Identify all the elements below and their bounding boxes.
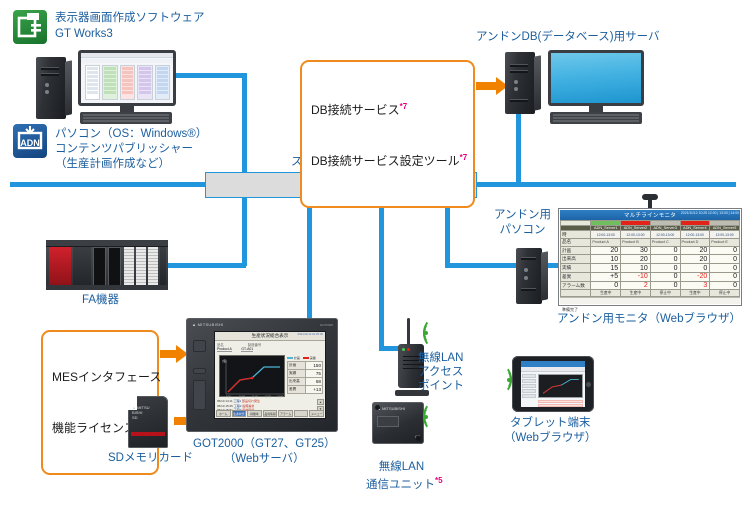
tower-bay — [41, 67, 58, 70]
got-meta: 品名 製造番号 Product A GT-A01 — [217, 342, 323, 353]
footnote-marker: *7 — [400, 102, 408, 111]
andon-monitor-bezel: マルチラインモニタ 2021/11/12 10:25 12:00 | 13:00… — [558, 208, 742, 306]
andon-data-row: 出来高10200200 — [561, 255, 740, 264]
got-value-key: 計画 — [288, 362, 306, 370]
andon-line-name: ADN_Server3 — [650, 226, 680, 231]
got-meta-value: Product A — [217, 347, 232, 352]
andon-line-name: ADN_Server1 — [591, 226, 621, 231]
sd-card-stripe — [131, 432, 165, 436]
got-nav-button[interactable]: ホーム — [216, 410, 231, 417]
keyboard-row — [553, 117, 639, 119]
browser-rows — [538, 400, 583, 405]
got-nav-button[interactable]: 品質情報 — [263, 410, 278, 417]
mes-line1: MESインタフェース — [52, 369, 148, 385]
fa-top-cover — [46, 240, 168, 247]
svg-text:9:00: 9:00 — [226, 395, 231, 398]
andon-cell-value: 0 — [650, 255, 680, 264]
keyboard-row — [553, 114, 639, 116]
wlan-unit-text: 無線LAN 通信ユニット — [366, 461, 435, 491]
got-value-row: 差異+13 — [288, 386, 323, 394]
got-nav-button[interactable]: 稼働率 — [247, 410, 262, 417]
fa-equipment — [46, 240, 168, 290]
monitor-bezel — [548, 50, 644, 106]
andon-line-state: 停止中 — [650, 290, 680, 297]
design-pc-tower — [36, 57, 66, 119]
andon-monitor-label: アンドン用モニタ（Webブラウザ） — [557, 312, 741, 326]
got-value-key: 差異 — [288, 386, 306, 394]
db-service-callout: DB接続サービス*7 DB接続サービス設定ツール*7 — [300, 60, 475, 208]
andon-cell-value: -20 — [680, 272, 710, 281]
andon-product-name: Product C — [650, 239, 680, 247]
andon-row-label: 計画 — [561, 246, 591, 255]
andon-cell-value: 0 — [710, 272, 740, 281]
keyboard-row — [83, 120, 169, 122]
tower-led — [514, 80, 518, 84]
wifi-arc — [491, 365, 512, 394]
andon-cell-value: 2 — [621, 281, 651, 290]
svg-text:11:00: 11:00 — [252, 395, 258, 398]
got-value-key: 実績 — [288, 370, 306, 378]
footnote-marker: *5 — [435, 476, 443, 485]
fa-base — [46, 285, 168, 290]
andon-status-bar: 準備完了 — [560, 297, 740, 304]
network-line-fa-v — [242, 198, 247, 266]
wireless-lan-communication-unit: ▲ MITSUBISHI C€ — [372, 402, 424, 444]
andon-cell-value: 20 — [591, 246, 621, 255]
andon-title-text: マルチラインモニタ — [624, 211, 676, 219]
wifi-arc — [423, 318, 445, 348]
got-nav-button[interactable]: アラーム — [278, 410, 293, 417]
tower-led — [45, 90, 49, 94]
andon-table-container: ADN_Server1ADN_Server2ADN_Server3ADN_Ser… — [560, 220, 740, 297]
andon-line-time: 12:00-13:00 — [621, 231, 651, 239]
andon-row-label: 実績 — [561, 264, 591, 273]
app-toolbar — [81, 53, 173, 58]
server-desktop — [551, 53, 641, 103]
got-value-key: 出来高 — [288, 378, 306, 386]
app-panel — [120, 65, 135, 100]
fa-label: FA機器 — [82, 293, 119, 307]
andon-cell-value: 10 — [621, 264, 651, 273]
andon-line-name: ADN_Server4 — [680, 226, 710, 231]
sd-card-print: ▲ MITSUBISHISD — [132, 405, 165, 420]
db-service-line2: DB接続サービス設定ツール*7 — [311, 150, 464, 169]
andon-cell-value: 0 — [710, 264, 740, 273]
monitor-screen — [551, 53, 641, 103]
tower-bay — [521, 288, 536, 291]
wifi-arc — [423, 402, 444, 431]
scroll-up-icon[interactable]: ▲ — [317, 399, 324, 405]
mitsubishi-brand-mark: ▲ MITSUBISHI — [192, 322, 224, 327]
app-panel — [137, 65, 152, 100]
tower-side — [534, 55, 541, 110]
andon-line-state: 生産中 — [680, 290, 710, 297]
network-line-andonpc-v — [445, 198, 450, 266]
andon-data-row: アラーム数02030 — [561, 281, 740, 290]
got-production-screen: 生産状況総合表示 2021/11/12 10:25:30 品名 製造番号 Pro… — [215, 332, 325, 418]
db-service-line1: DB接続サービス*7 — [311, 99, 464, 118]
got-value-row: 計画150 — [288, 362, 323, 370]
got-value-table: 計画150実績75出来高68差異+13 — [287, 361, 323, 394]
andon-cell-value: 20 — [680, 255, 710, 264]
tower-bay — [510, 70, 527, 73]
got-meta-value: GT-A01 — [241, 347, 253, 352]
legend-label: 計画 — [294, 356, 300, 360]
wlan-unit-label: 無線LAN 通信ユニット*5 — [366, 446, 443, 506]
svg-text:13:00: 13:00 — [277, 395, 284, 398]
andon-cell-value: 30 — [621, 246, 651, 255]
got-log-message: 部品切れ発生 — [242, 399, 260, 403]
andon-row-label: 差異 — [561, 272, 591, 281]
network-line-pc-h — [175, 73, 247, 78]
andon-line-time: 12:00-13:00 — [710, 231, 740, 239]
network-line-pc-v — [242, 73, 247, 184]
legend-swatch-actual — [303, 357, 309, 359]
network-line-trunk-left — [10, 182, 206, 187]
got-model-mark: GOT2000 — [320, 323, 333, 327]
andon-pc-label: アンドン用 パソコン — [494, 208, 551, 238]
andon-cell-value: 0 — [710, 255, 740, 264]
got-button-bar: ホーム生産状況稼働率品質情報アラームメニュー — [216, 410, 324, 417]
keyboard-row — [83, 114, 169, 116]
mitsubishi-brand-mark: ▲ MITSUBISHI — [377, 406, 405, 411]
got-nav-button[interactable]: メニュー — [309, 410, 324, 417]
tower-led — [45, 83, 49, 87]
got-values: 計画150実績75出来高68差異+13 — [287, 361, 323, 394]
tower-bay — [521, 257, 536, 260]
status-led-red — [407, 348, 410, 351]
network-line-got-v — [307, 198, 312, 320]
svg-text:10:00: 10:00 — [239, 395, 246, 398]
andon-cell-value: 20 — [621, 255, 651, 264]
legend-label: 実績 — [310, 356, 316, 360]
got-log-time: 05/10 15:45 — [217, 404, 234, 408]
andon-cell-value: 0 — [650, 272, 680, 281]
status-led-green — [402, 348, 405, 351]
got-touchscreen[interactable]: 生産状況総合表示 2021/11/12 10:25:30 品名 製造番号 Pro… — [214, 331, 326, 419]
tablet-device[interactable] — [512, 356, 594, 412]
andon-row-label: 時 — [561, 231, 591, 239]
andon-cell-value: 0 — [650, 264, 680, 273]
andon-line-name: ADN_Server5 — [710, 226, 740, 231]
server-label: アンドンDB(データベース)用サーバ — [476, 30, 659, 44]
got-side-button[interactable] — [193, 340, 206, 352]
fa-terminal-module — [148, 247, 158, 286]
andon-line-time: 12:00-13:00 — [650, 231, 680, 239]
got-log-tag: 工程2 — [234, 404, 243, 408]
tower-bay — [510, 99, 527, 102]
svg-text:ADN: ADN — [20, 138, 40, 148]
andon-row-label — [561, 290, 591, 297]
got-log-message: 設備異常 — [242, 404, 254, 408]
gtworks-label: 表示器画面作成ソフトウェア GT Works3 — [55, 10, 205, 42]
footnote-marker: *7 — [460, 153, 468, 162]
got-value-number: 68 — [305, 378, 323, 386]
tower-front — [505, 52, 535, 114]
got-value-row: 実績75 — [288, 370, 323, 378]
app-panel — [102, 65, 117, 100]
wlan-ap-label: 無線LAN アクセス ポイント — [418, 351, 464, 393]
andon-cell-value: 15 — [591, 264, 621, 273]
tower-side — [541, 251, 548, 300]
fa-connector-module — [108, 247, 121, 286]
andon-cell-value: +5 — [591, 272, 621, 281]
andon-cell-value: 0 — [650, 281, 680, 290]
tablet-label: タブレット端末 （Webブラウザ） — [504, 416, 596, 446]
mounting-hole — [416, 436, 421, 441]
got-value-row: 出来高68 — [288, 378, 323, 386]
monitor-bezel — [78, 50, 176, 106]
andon-cell-value: -10 — [621, 272, 651, 281]
network-line-server-v — [516, 112, 521, 184]
andon-product-name: Product D — [680, 239, 710, 247]
gt-works3-app-window — [81, 53, 173, 103]
andon-data-row: 実績1510000 — [561, 264, 740, 273]
sd-memory-card: ▲ MITSUBISHISD — [128, 396, 168, 448]
adn-glyph: ADN — [13, 124, 47, 158]
app-panel — [85, 65, 100, 100]
got-chart-legend: 計画 実績 — [287, 355, 323, 360]
got-value-number: +13 — [305, 386, 323, 394]
got-value-number: 75 — [305, 370, 323, 378]
legend-entry: 実績 — [303, 356, 316, 360]
andon-line-time: 12:00-13:00 — [591, 231, 621, 239]
tower-bay — [41, 73, 58, 76]
antenna — [407, 318, 410, 346]
legend-swatch-plan — [287, 357, 293, 359]
legend-entry: 計画 — [287, 356, 300, 360]
unit-label-plate — [377, 416, 399, 427]
tower-led — [524, 276, 528, 280]
home-button-icon[interactable] — [586, 382, 591, 387]
got-log-time: 05/10 14:11 — [217, 399, 233, 403]
fa-connector-module — [93, 247, 106, 286]
tablet-chart-svg — [539, 375, 582, 397]
andon-row-label: 品名 — [561, 239, 591, 247]
andon-cell-value: 0 — [650, 246, 680, 255]
got-title-text: 生産状況総合表示 — [252, 333, 289, 339]
tower-bay — [510, 64, 527, 67]
andon-cell-value: 10 — [591, 255, 621, 264]
andon-cell-value: 0 — [591, 281, 621, 290]
keyboard-row — [83, 117, 169, 119]
tower-led — [524, 268, 528, 272]
fa-terminal-module — [136, 247, 146, 286]
andon-cell-value: 0 — [710, 246, 740, 255]
andon-pc-tower — [516, 248, 542, 304]
browser-chart — [538, 374, 583, 398]
andon-db-server-tower — [505, 52, 535, 114]
got-nav-button[interactable]: 生産状況 — [232, 410, 247, 417]
network-line-wlanap-v — [379, 198, 384, 350]
tower-side — [65, 60, 72, 115]
got-trend-chart: (個) 9:00 10:00 11:00 12:00 13:00 — [219, 355, 285, 397]
adn-content-publisher-icon: ADN — [13, 124, 47, 158]
andon-multiline-table: ADN_Server1ADN_Server2ADN_Server3ADN_Ser… — [560, 220, 740, 297]
andon-data-row: 計画20300200 — [561, 246, 740, 255]
andon-clock: 2021/11/12 10:25 12:00 | 13:00 | 14:00 — [681, 211, 739, 215]
svg-text:12:00: 12:00 — [265, 395, 272, 398]
andon-row-label: 出来高 — [561, 255, 591, 264]
andon-db-server-monitor — [548, 50, 644, 118]
gt-works3-icon — [13, 10, 47, 44]
andon-cell-value: 3 — [680, 281, 710, 290]
design-pc-label: パソコン（OS：Windows®） コンテンツパブリッシャー （生産計画作成など… — [55, 127, 207, 172]
browser-toolbar — [521, 367, 585, 372]
andon-line-state: 停止中 — [710, 290, 740, 297]
andon-product-name: Product A — [591, 239, 621, 247]
andon-cell-value: 0 — [680, 264, 710, 273]
network-line-fa-h — [160, 263, 246, 268]
wifi-signal-icon-tablet — [487, 368, 511, 392]
got-log-tag: 工程1 — [233, 399, 242, 403]
got-nav-button[interactable] — [294, 410, 309, 417]
andon-db-server-keyboard — [550, 112, 642, 124]
got-side-button[interactable] — [193, 368, 206, 374]
browser-side-list — [522, 374, 536, 395]
design-pc-keyboard — [80, 112, 172, 124]
network-diagram: スイッチングハブ HUB 表示器画面作成ソフトウェア GT Works3 — [0, 0, 746, 480]
andon-cell-value: 0 — [710, 281, 740, 290]
wifi-signal-icon-unit — [424, 405, 448, 429]
got-label: GOT2000（GT27、GT25） （Webサーバ） — [193, 437, 336, 467]
tablet-web-browser — [521, 361, 585, 407]
fa-power-module — [49, 247, 71, 286]
mounting-hole — [375, 405, 380, 410]
keyboard-row — [553, 120, 639, 122]
got-side-button[interactable] — [193, 380, 206, 410]
got-chart-svg: (個) 9:00 10:00 11:00 12:00 13:00 — [220, 356, 286, 398]
andon-line-name: ADN_Server2 — [621, 226, 651, 231]
app-toolbar-2 — [81, 59, 173, 63]
sdcard-label: SDメモリカード — [108, 451, 193, 465]
andon-cell-value: 20 — [680, 246, 710, 255]
andon-product-name: Product E — [710, 239, 740, 247]
fa-end-module — [160, 247, 166, 286]
app-panels — [85, 65, 170, 100]
fa-terminal-module — [124, 247, 134, 286]
wifi-signal-icon-ap — [424, 320, 450, 346]
andon-row-label: アラーム数 — [561, 281, 591, 290]
app-panel — [155, 65, 170, 100]
tower-led — [514, 87, 518, 91]
network-line-andonpc-h — [445, 263, 520, 268]
monitor-screen — [81, 53, 173, 103]
got2000-panel[interactable]: ▲ MITSUBISHI GOT2000 生産状況総合表示 2021/11/12… — [186, 318, 338, 432]
andon-monitor: マルチラインモニタ 2021/11/12 10:25 12:00 | 13:00… — [558, 208, 742, 306]
gt-works3-glyph — [13, 10, 47, 44]
got-meta-row: Product A GT-A01 — [217, 347, 323, 351]
andon-line-time: 12:00-13:00 — [680, 231, 710, 239]
got-value-number: 150 — [305, 362, 323, 370]
got-timestamp: 2021/11/12 10:25:30 — [298, 333, 323, 336]
tablet-screen[interactable] — [521, 361, 585, 407]
andon-product-name: Product B — [621, 239, 651, 247]
arrow-shaft — [476, 82, 498, 90]
design-pc-monitor — [78, 50, 176, 118]
andon-line-state: 生産中 — [621, 290, 651, 297]
fa-cpu-module — [73, 247, 91, 286]
andon-line-state: 生産中 — [591, 290, 621, 297]
andon-data-row: 差異+5-100-200 — [561, 272, 740, 281]
